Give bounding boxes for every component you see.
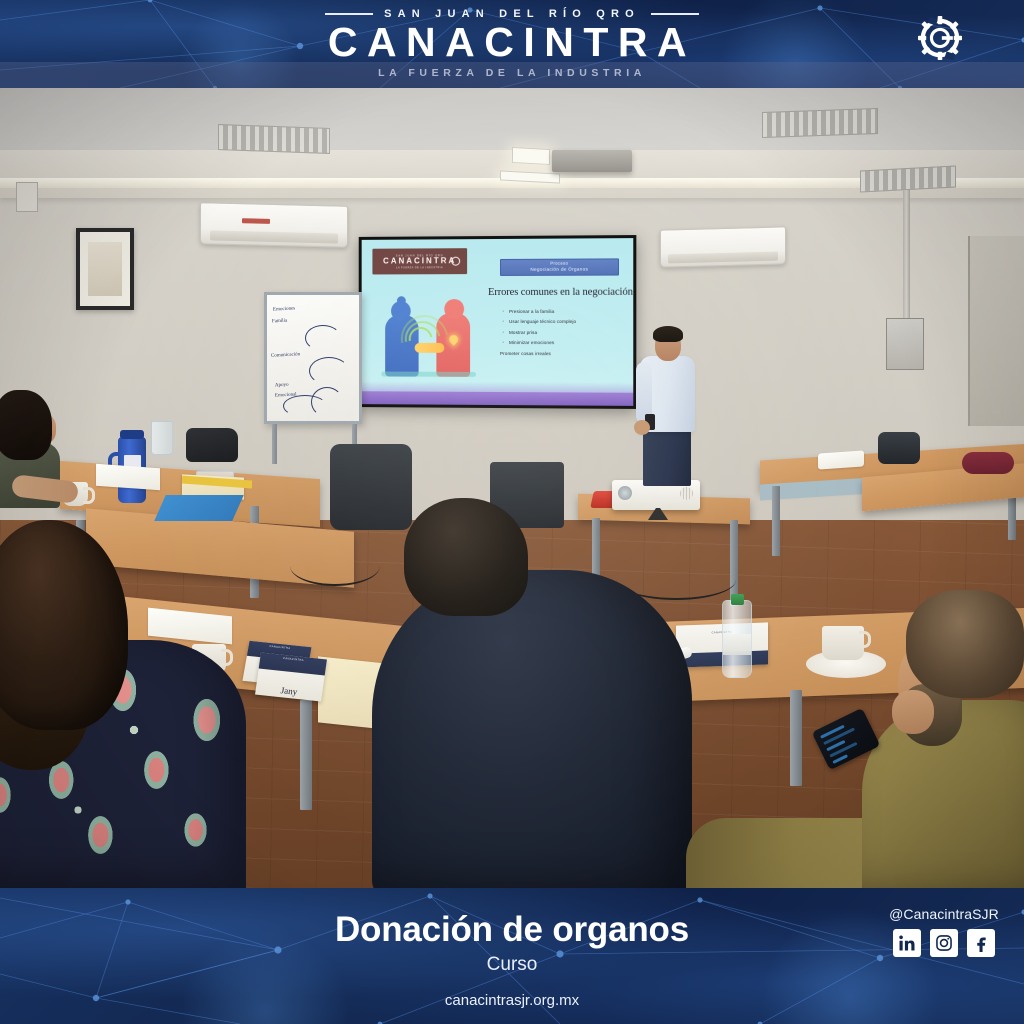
footer-brand-bar: Donación de organos Curso canacintrasjr.…	[0, 888, 1024, 1024]
slide-logo-gear-icon	[451, 257, 460, 266]
rule-left	[325, 13, 373, 15]
bottle-cap	[731, 594, 744, 605]
table-leg	[772, 486, 780, 556]
water-glass	[151, 421, 173, 455]
event-photo: SAN JUAN DEL RÍO QRO CANACINTRA LA FUERZ…	[0, 0, 1024, 1024]
chair-cushion	[962, 452, 1014, 474]
whiteboard-scribble	[309, 357, 349, 385]
slide-bullet: Usar lenguaje técnico complejo	[500, 319, 631, 324]
brand-wordmark: CANACINTRA	[328, 21, 696, 64]
slide-bullet-list: Presionar a la familia Usar lenguaje téc…	[500, 309, 631, 362]
instagram-icon[interactable]	[930, 929, 958, 957]
social-icon-row	[878, 929, 1010, 957]
post-subtitle: Curso	[0, 954, 1024, 976]
whiteboard-scribble	[305, 325, 341, 351]
air-conditioner-right	[660, 226, 786, 267]
whiteboard-note: Comunicación	[271, 352, 300, 359]
attendee-hand	[892, 690, 934, 734]
slide-illustration	[381, 301, 476, 381]
presenter-trousers	[643, 428, 691, 486]
whiteboard-scribble	[283, 395, 327, 417]
post-title: Donación de organos	[0, 910, 1024, 950]
linkedin-icon[interactable]	[893, 929, 921, 957]
slide-logo-kicker: SAN JUAN DEL RÍO QRO	[396, 254, 444, 257]
wall-picture-frame	[76, 228, 134, 310]
header-brand-bar: SAN JUAN DEL RÍO QRO CANACINTRA LA FUERZ…	[0, 0, 1024, 88]
presentation-slide: SAN JUAN DEL RÍO QRO CANACINTRA LA FUERZ…	[362, 238, 634, 406]
facebook-icon[interactable]	[967, 929, 995, 957]
whiteboard: Emociones Familia Comunicación Apoyo Emo…	[264, 292, 362, 424]
slide-logo-tagline: LA FUERZA DE LA INDUSTRIA	[396, 266, 443, 269]
attendee-hair	[906, 590, 1024, 698]
website-url[interactable]: canacintrasjr.org.mx	[0, 992, 1024, 1009]
chair-empty-center	[330, 444, 412, 530]
slide-bullet: Minimizar emociones	[500, 340, 631, 345]
ac-brand-logo	[242, 218, 270, 224]
table-leg	[300, 700, 312, 810]
whiteboard-note: Apoyo	[275, 383, 289, 389]
social-post-canvas: SAN JUAN DEL RÍO QRO CANACINTRA LA FUERZ…	[0, 0, 1024, 1024]
header-overlay-band	[0, 62, 1024, 88]
canacintra-gear-globe-icon	[918, 16, 962, 60]
side-door	[968, 236, 1024, 426]
coffee-cup-right	[822, 626, 864, 660]
table-object-white	[818, 450, 864, 469]
slide-bottom-bar	[362, 391, 634, 406]
slide-bullet: Presionar a la familia	[500, 309, 631, 314]
electrical-panel	[886, 318, 924, 370]
paper-sheet	[96, 464, 160, 490]
slide-canacintra-logo: SAN JUAN DEL RÍO QRO CANACINTRA LA FUERZ…	[372, 248, 467, 274]
ceiling-light	[512, 147, 550, 165]
slide-section-banner: Proceso Negociación de Órganos	[500, 258, 619, 276]
ceiling-vent	[762, 108, 878, 138]
social-handle: @CanacintraSJR	[878, 906, 1010, 922]
wall-switch	[16, 182, 38, 212]
presenter-hair	[653, 326, 683, 342]
blue-folder	[154, 495, 244, 521]
illustration-ground	[381, 372, 476, 377]
whiteboard-leg	[272, 424, 277, 464]
rule-right	[651, 13, 699, 15]
whiteboard-note: Emociones	[273, 306, 295, 312]
slide-logo-brand: CANACINTRA	[383, 257, 456, 265]
floor-cable	[290, 546, 380, 586]
wall-conduit	[903, 190, 910, 320]
illustration-clasped-hands	[415, 343, 445, 353]
black-bag	[186, 428, 238, 462]
illustration-figure-blue-bun	[397, 296, 406, 305]
projection-screen: SAN JUAN DEL RÍO QRO CANACINTRA LA FUERZ…	[359, 235, 637, 409]
attendee-torso	[372, 570, 692, 900]
slide-bullet: Mostrar prisa	[500, 330, 631, 335]
chair-empty	[878, 432, 920, 464]
attendee-hair	[0, 390, 52, 460]
ceiling-projector-mount	[552, 150, 632, 172]
illustration-figure-red-head	[444, 299, 464, 319]
slide-title: Errores comunes en la negociación	[488, 287, 633, 298]
slide-closing-line: Prometer cosas irreales	[500, 351, 631, 356]
presenter-hand	[634, 420, 650, 435]
attendee-hair	[404, 498, 528, 616]
air-conditioner-left	[200, 202, 348, 248]
name-card-jany: CANACINTRA Jany	[255, 653, 327, 702]
table-leg	[790, 690, 802, 786]
slide-section-line2: Negociación de Órganos	[530, 267, 588, 273]
social-block: @CanacintraSJR	[878, 906, 1010, 957]
ceiling-vent	[218, 124, 330, 154]
bottle-label	[723, 634, 751, 655]
whiteboard-note: Familia	[272, 319, 288, 325]
